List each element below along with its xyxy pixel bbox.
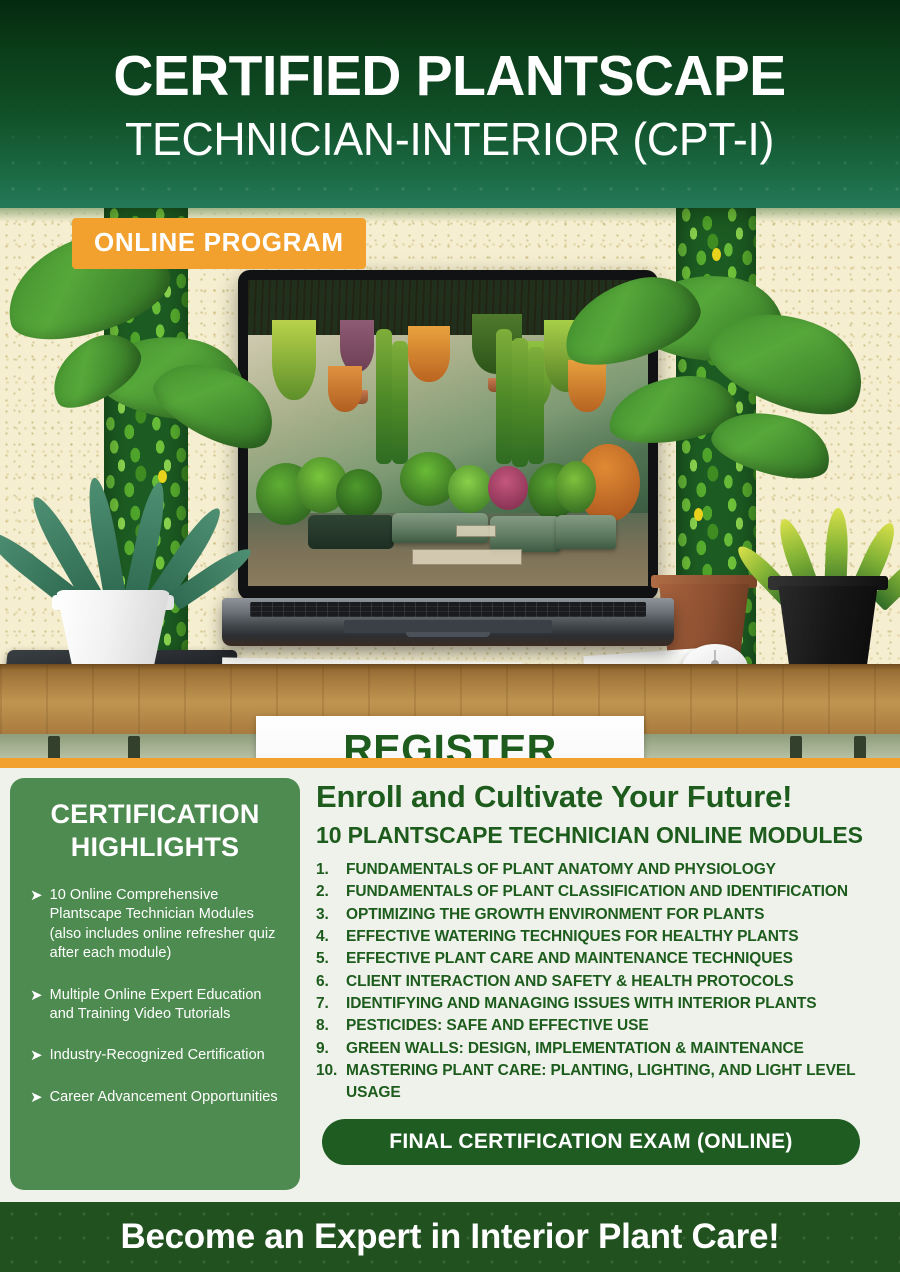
module-number: 2.: [316, 881, 346, 903]
module-number: 4.: [316, 926, 346, 948]
arrow-bullet-icon: ➤: [30, 1088, 43, 1107]
module-title: FUNDAMENTALS OF PLANT CLASSIFICATION AND…: [346, 881, 888, 903]
laptop-lid-notch: [406, 632, 490, 637]
module-number: 7.: [316, 993, 346, 1015]
highlights-list: ➤ 10 Online Comprehensive Plantscape Tec…: [22, 886, 288, 1107]
flyer-page: CERTIFIED PLANTSCAPE TECHNICIAN-INTERIOR…: [0, 0, 900, 1272]
register-line-1: REGISTER: [343, 729, 557, 760]
list-item: 5. EFFECTIVE PLANT CARE AND MAINTENANCE …: [316, 948, 888, 970]
orange-divider: [0, 758, 900, 768]
page-title-line2: TECHNICIAN-INTERIOR (CPT-I): [125, 113, 774, 166]
online-program-badge: ONLINE PROGRAM: [72, 218, 366, 269]
modules-column: Enroll and Cultivate Your Future! 10 PLA…: [300, 778, 900, 1190]
list-item: 4. EFFECTIVE WATERING TECHNIQUES FOR HEA…: [316, 926, 888, 948]
list-item: 3. OPTIMIZING THE GROWTH ENVIRONMENT FOR…: [316, 904, 888, 926]
module-number: 9.: [316, 1038, 346, 1060]
module-number: 8.: [316, 1015, 346, 1037]
module-title: FUNDAMENTALS OF PLANT ANATOMY AND PHYSIO…: [346, 859, 888, 881]
list-item: ➤ Multiple Online Expert Education and T…: [22, 986, 288, 1025]
enroll-heading: Enroll and Cultivate Your Future!: [316, 780, 888, 814]
modules-list: 1. FUNDAMENTALS OF PLANT ANATOMY AND PHY…: [316, 859, 888, 1104]
final-exam-button[interactable]: FINAL CERTIFICATION EXAM (ONLINE): [322, 1119, 860, 1165]
list-item: 9. GREEN WALLS: DESIGN, IMPLEMENTATION &…: [316, 1038, 888, 1060]
highlights-title-line2: HIGHLIGHTS: [22, 831, 288, 864]
list-item: ➤ 10 Online Comprehensive Plantscape Tec…: [22, 886, 288, 964]
list-item: 7. IDENTIFYING AND MANAGING ISSUES WITH …: [316, 993, 888, 1015]
certification-highlights-card: CERTIFICATION HIGHLIGHTS ➤ 10 Online Com…: [10, 778, 300, 1190]
module-title: MASTERING PLANT CARE: PLANTING, LIGHTING…: [346, 1060, 888, 1105]
list-item: 6. CLIENT INTERACTION AND SAFETY & HEALT…: [316, 971, 888, 993]
list-item: 8. PESTICIDES: SAFE AND EFFECTIVE USE: [316, 1015, 888, 1037]
module-number: 5.: [316, 948, 346, 970]
highlight-text: Career Advancement Opportunities: [50, 1088, 278, 1107]
module-title: EFFECTIVE PLANT CARE AND MAINTENANCE TEC…: [346, 948, 888, 970]
register-today-callout[interactable]: REGISTER TODAY!: [256, 716, 644, 760]
list-item: ➤ Career Advancement Opportunities: [22, 1088, 288, 1107]
arrow-bullet-icon: ➤: [30, 886, 43, 905]
modules-heading: 10 PLANTSCAPE TECHNICIAN ONLINE MODULES: [316, 822, 888, 849]
highlight-text: 10 Online Comprehensive Plantscape Techn…: [50, 886, 284, 964]
hero-photo: REGISTER TODAY!: [0, 208, 900, 760]
module-number: 3.: [316, 904, 346, 926]
module-number: 6.: [316, 971, 346, 993]
module-title: PESTICIDES: SAFE AND EFFECTIVE USE: [346, 1015, 888, 1037]
list-item: 1. FUNDAMENTALS OF PLANT ANATOMY AND PHY…: [316, 859, 888, 881]
header-banner: CERTIFIED PLANTSCAPE TECHNICIAN-INTERIOR…: [0, 0, 900, 208]
module-number: 10.: [316, 1060, 346, 1082]
highlights-title-line1: CERTIFICATION: [22, 798, 288, 831]
footer-banner: Become an Expert in Interior Plant Care!: [0, 1202, 900, 1272]
module-title: IDENTIFYING AND MANAGING ISSUES WITH INT…: [346, 993, 888, 1015]
content-section: CERTIFICATION HIGHLIGHTS ➤ 10 Online Com…: [0, 768, 900, 1202]
laptop-base: [222, 598, 674, 646]
module-title: CLIENT INTERACTION AND SAFETY & HEALTH P…: [346, 971, 888, 993]
arrow-bullet-icon: ➤: [30, 986, 43, 1005]
module-title: EFFECTIVE WATERING TECHNIQUES FOR HEALTH…: [346, 926, 888, 948]
module-number: 1.: [316, 859, 346, 881]
list-item: 10. MASTERING PLANT CARE: PLANTING, LIGH…: [316, 1060, 888, 1105]
footer-tagline: Become an Expert in Interior Plant Care!: [120, 1217, 779, 1257]
highlight-text: Multiple Online Expert Education and Tra…: [50, 986, 284, 1025]
list-item: 2. FUNDAMENTALS OF PLANT CLASSIFICATION …: [316, 881, 888, 903]
module-title: GREEN WALLS: DESIGN, IMPLEMENTATION & MA…: [346, 1038, 888, 1060]
laptop-keyboard: [250, 602, 646, 617]
module-title: OPTIMIZING THE GROWTH ENVIRONMENT FOR PL…: [346, 904, 888, 926]
highlight-text: Industry-Recognized Certification: [50, 1046, 265, 1065]
page-title-line1: CERTIFIED PLANTSCAPE: [114, 48, 786, 105]
list-item: ➤ Industry-Recognized Certification: [22, 1046, 288, 1065]
arrow-bullet-icon: ➤: [30, 1046, 43, 1065]
